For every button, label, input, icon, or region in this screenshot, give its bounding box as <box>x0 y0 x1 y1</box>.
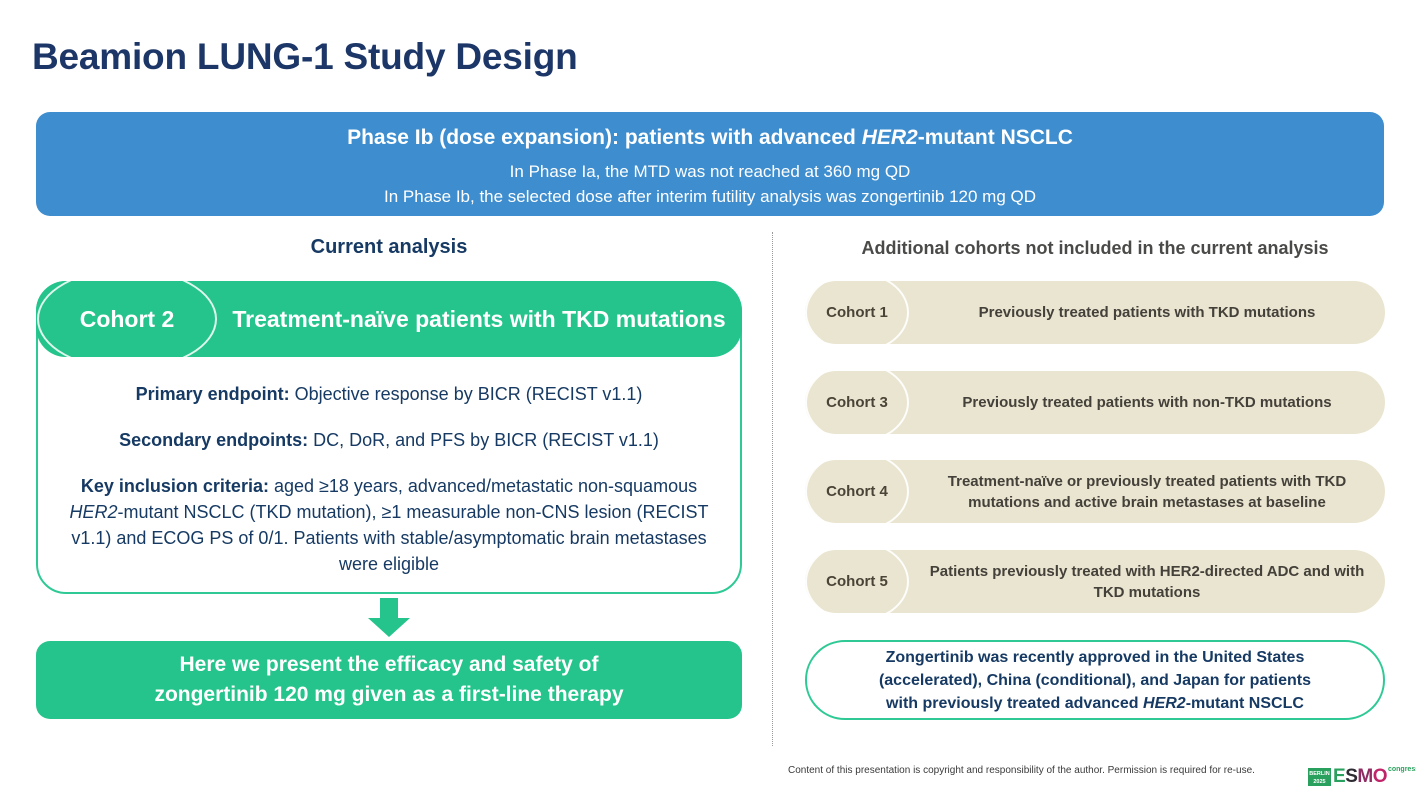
esmo-logo-year: 2025 <box>1308 778 1331 786</box>
esmo-logo-letter-m: M <box>1357 766 1372 787</box>
approval-line-3: with previously treated advanced HER2-mu… <box>879 692 1311 715</box>
column-divider <box>772 232 773 746</box>
current-analysis-heading: Current analysis <box>36 236 742 259</box>
cohort-pill-5-description: Patients previously treated with HER2-di… <box>909 550 1385 613</box>
secondary-endpoints-label: Secondary endpoints: <box>119 430 308 450</box>
esmo-congress-logo: BERLIN 2025 ESMO congress <box>1308 765 1416 789</box>
additional-cohorts-heading: Additional cohorts not included in the c… <box>800 238 1390 259</box>
cohort-2-details: Primary endpoint: Objective response by … <box>38 359 740 577</box>
approval-line-3-post: -mutant NSCLC <box>1186 695 1304 712</box>
esmo-logo-letters: ESMO <box>1333 767 1387 787</box>
cohort-2-title: Treatment-naïve patients with TKD mutati… <box>216 281 742 357</box>
cohort-pill-3-description: Previously treated patients with non-TKD… <box>909 371 1385 434</box>
inclusion-criteria-line: Key inclusion criteria: aged ≥18 years, … <box>66 473 712 577</box>
phase-banner: Phase Ib (dose expansion): patients with… <box>36 112 1384 216</box>
cohort-pill-4-description: Treatment-naïve or previously treated pa… <box>909 460 1385 523</box>
cohort-pill-5: Patients previously treated with HER2-di… <box>805 550 1385 613</box>
page-title: Beamion LUNG-1 Study Design <box>32 36 578 78</box>
esmo-logo-congress-word: congress <box>1388 766 1416 773</box>
down-arrow-icon <box>367 598 411 638</box>
cohort-pill-5-label: Cohort 5 <box>805 541 909 622</box>
primary-endpoint-text: Objective response by BICR (RECIST v1.1) <box>290 384 643 404</box>
esmo-logo-berlin-badge: BERLIN 2025 <box>1308 768 1331 786</box>
cohort-2-card: Treatment-naïve patients with TKD mutati… <box>36 281 742 594</box>
approval-line-3-pre: with previously treated advanced <box>886 695 1143 712</box>
esmo-logo-city: BERLIN <box>1308 770 1331 778</box>
cohort-pill-1: Previously treated patients with TKD mut… <box>805 281 1385 344</box>
approval-line-2: (accelerated), China (conditional), and … <box>879 669 1311 692</box>
cohort-pill-4-label: Cohort 4 <box>805 451 909 532</box>
esmo-logo-letter-e: E <box>1333 766 1345 787</box>
esmo-logo-letter-o: O <box>1373 766 1387 787</box>
inclusion-criteria-label: Key inclusion criteria: <box>81 476 269 496</box>
cohort-pill-3: Previously treated patients with non-TKD… <box>805 371 1385 434</box>
esmo-logo-letter-s: S <box>1345 766 1357 787</box>
cohort-2-header-bar: Treatment-naïve patients with TKD mutati… <box>36 281 742 357</box>
cohort-2-label: Cohort 2 <box>37 268 217 370</box>
cohort-pill-1-description: Previously treated patients with TKD mut… <box>909 281 1385 344</box>
inclusion-criteria-her2: HER2 <box>69 502 117 522</box>
cohort-pill-3-label: Cohort 3 <box>805 362 909 443</box>
approval-box: Zongertinib was recently approved in the… <box>805 640 1385 720</box>
conclusion-line-2: zongertinib 120 mg given as a first-line… <box>154 680 623 710</box>
approval-line-3-her2: HER2 <box>1143 695 1186 712</box>
secondary-endpoints-line: Secondary endpoints: DC, DoR, and PFS by… <box>66 427 712 453</box>
approval-line-1: Zongertinib was recently approved in the… <box>879 646 1311 669</box>
conclusion-line-1: Here we present the efficacy and safety … <box>154 650 623 680</box>
cohort-pill-4: Treatment-naïve or previously treated pa… <box>805 460 1385 523</box>
phase-banner-title: Phase Ib (dose expansion): patients with… <box>36 123 1384 153</box>
phase-banner-subline-2: In Phase Ib, the selected dose after int… <box>36 184 1384 209</box>
footer-copyright: Content of this presentation is copyrigh… <box>788 765 1255 776</box>
inclusion-criteria-text-2: -mutant NSCLC (TKD mutation), ≥1 measura… <box>71 502 708 574</box>
phase-banner-subline-1: In Phase Ia, the MTD was not reached at … <box>36 159 1384 184</box>
primary-endpoint-label: Primary endpoint: <box>136 384 290 404</box>
cohort-pill-1-label: Cohort 1 <box>805 272 909 353</box>
conclusion-box: Here we present the efficacy and safety … <box>36 641 742 719</box>
inclusion-criteria-text-1: aged ≥18 years, advanced/metastatic non-… <box>269 476 697 496</box>
phase-banner-title-her2: HER2 <box>862 126 918 149</box>
primary-endpoint-line: Primary endpoint: Objective response by … <box>66 381 712 407</box>
phase-banner-title-post: -mutant NSCLC <box>918 126 1073 149</box>
secondary-endpoints-text: DC, DoR, and PFS by BICR (RECIST v1.1) <box>308 430 659 450</box>
phase-banner-title-pre: Phase Ib (dose expansion): patients with… <box>347 126 862 149</box>
